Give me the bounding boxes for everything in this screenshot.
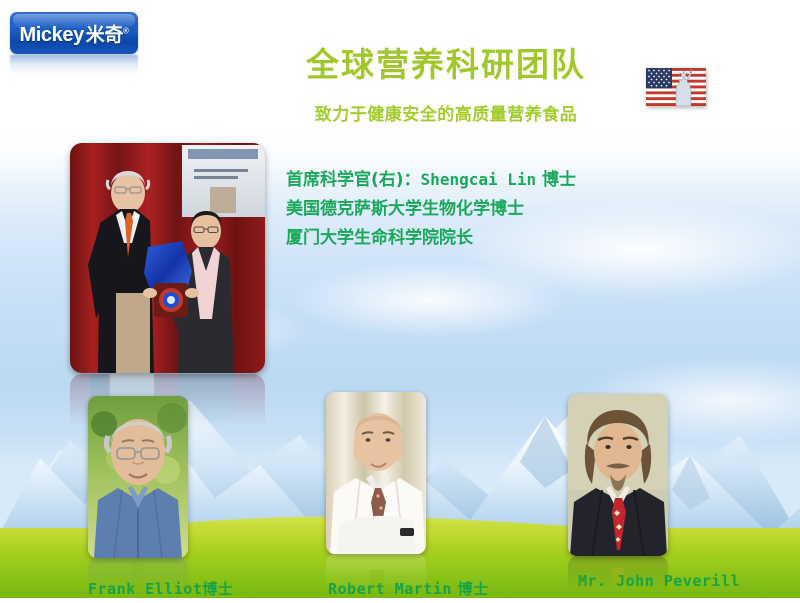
page-title: 全球营养科研团队 (236, 48, 656, 83)
team-name-2-cn: 博士 (452, 580, 489, 598)
chief-scientist-caption: 首席科学官(右)：Shengcai Lin 博士 美国德克萨斯大学生物化学博士 … (286, 166, 706, 254)
team-portrait-1[interactable] (88, 396, 188, 558)
ceremony-photo[interactable] (70, 143, 265, 373)
team-name-1-cn: 博士 (202, 580, 233, 598)
brand-logo-text: Mickey米奇® (19, 20, 128, 47)
brand-logo-text-cn: 米奇 (86, 24, 123, 46)
us-flag-icon (646, 68, 706, 106)
team-name-2-en: Robert Martin (328, 580, 452, 598)
team-name-3-en: Mr. John Peverill (578, 572, 740, 590)
slide-canvas: Mickey米奇® 全球营养科研团队 致力于健康安全的高质量营养食品 (0, 0, 800, 603)
page-subtitle: 致力于健康安全的高质量营养食品 (236, 100, 656, 125)
slide-bottom-edge (0, 598, 800, 603)
team-name-1-en: Frank Elliot (88, 580, 202, 598)
caption-line-1: 首席科学官(右)：Shengcai Lin 博士 (286, 166, 706, 195)
team-name-2: Robert Martin 博士 (328, 578, 489, 599)
brand-logo-plate: Mickey米奇® (10, 12, 138, 54)
team-name-1: Frank Elliot博士 (88, 578, 233, 599)
registered-mark-icon: ® (123, 26, 129, 35)
team-name-3: Mr. John Peverill (578, 572, 740, 590)
caption-degree: 博士 (536, 170, 576, 190)
brand-logo[interactable]: Mickey米奇® (10, 12, 140, 75)
caption-line-2: 美国德克萨斯大学生物化学博士 (286, 195, 706, 224)
caption-person-name: Shengcai Lin (421, 170, 537, 189)
brand-logo-reflection (10, 55, 138, 75)
team-portrait-3[interactable] (568, 394, 668, 556)
team-portrait-2[interactable] (326, 392, 426, 554)
caption-role: 首席科学官(右)： (286, 170, 421, 190)
caption-line-3: 厦门大学生命科学院院长 (286, 224, 706, 253)
